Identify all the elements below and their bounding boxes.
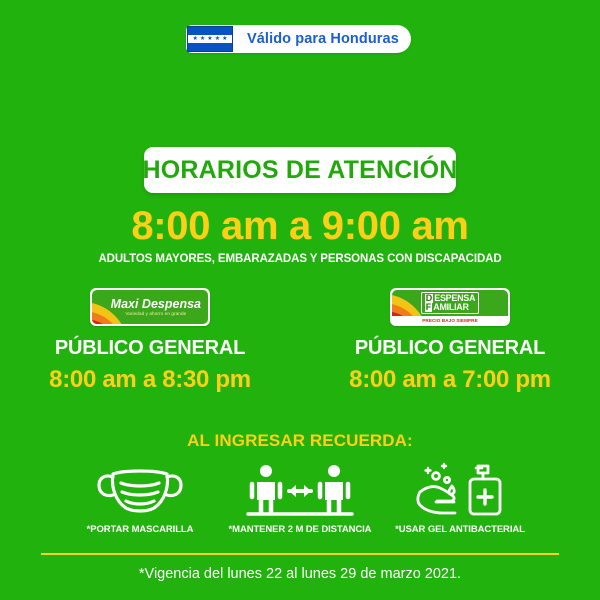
footer-validity-note: *Vigencia del lunes 22 al lunes 29 de ma… (0, 566, 600, 582)
reminder-label-mask: *PORTAR MASCARILLA (87, 524, 194, 535)
hand-sanitizer-icon (414, 462, 506, 518)
maxi-despensa-tagline: Variedad y ahorro en grande (111, 312, 201, 317)
despensa-familiar-hours: 8:00 am a 7:00 pm (349, 366, 551, 394)
reminder-item-distance: *MANTENER 2 M DE DISTANCIA (220, 462, 380, 535)
honduras-flag-icon: ★★★★★ (187, 26, 233, 52)
social-distance-icon (244, 462, 356, 518)
maxi-despensa-wordmark: Maxi Despensa Variedad y ahorro en grand… (111, 298, 201, 317)
reminder-label-sanitizer: *USAR GEL ANTIBACTERIAL (395, 524, 525, 535)
despensa-familiar-banner-text: PRECIO BAJO SIEMPRE (422, 318, 478, 323)
reminder-item-sanitizer: *USAR GEL ANTIBACTERIAL (380, 462, 540, 535)
despensa-familiar-logo-top: D ESPENSA F AMILIAR (392, 290, 508, 316)
page-title: HORARIOS DE ATENCIÓN (142, 156, 457, 185)
reminders-list: *PORTAR MASCARILLA *MANTENER 2 M DE DIST… (60, 462, 540, 535)
despensa-familiar-cap-f: F (425, 303, 433, 312)
flag-star: ★ (193, 36, 198, 42)
reminder-label-distance: *MANTENER 2 M DE DISTANCIA (229, 524, 372, 535)
store-hours-section: Maxi Despensa Variedad y ahorro en grand… (0, 288, 600, 394)
page-title-card: HORARIOS DE ATENCIÓN (144, 147, 456, 193)
maxi-despensa-logo: Maxi Despensa Variedad y ahorro en grand… (90, 288, 210, 326)
despensa-familiar-banner: PRECIO BAJO SIEMPRE (392, 316, 508, 324)
despensa-familiar-line2: F AMILIAR (425, 303, 475, 312)
flag-band-bottom (188, 43, 232, 51)
validity-badge: ★★★★★ Válido para Honduras (186, 25, 411, 53)
store-column-maxi-despensa: Maxi Despensa Variedad y ahorro en grand… (0, 288, 300, 394)
maxi-despensa-audience: PÚBLICO GENERAL (55, 337, 245, 360)
despensa-familiar-audience: PÚBLICO GENERAL (355, 337, 545, 360)
maxi-despensa-name: Maxi Despensa (111, 297, 201, 311)
priority-audience: ADULTOS MAYORES, EMBARAZADAS Y PERSONAS … (0, 253, 600, 265)
flag-band-top (188, 27, 232, 35)
reminder-item-mask: *PORTAR MASCARILLA (60, 462, 220, 535)
maxi-despensa-logo-inner: Maxi Despensa Variedad y ahorro en grand… (92, 290, 208, 324)
footer-divider (41, 553, 559, 555)
flag-star: ★ (207, 36, 212, 42)
face-mask-icon (95, 462, 185, 518)
validity-label: Válido para Honduras (247, 31, 399, 47)
store-column-despensa-familiar: D ESPENSA F AMILIAR PRECIO BAJO SIEMPRE … (300, 288, 600, 394)
flag-star: ★ (222, 36, 227, 42)
reminders-heading: AL INGRESAR RECUERDA: (0, 431, 600, 451)
flag-stars: ★★★★★ (188, 35, 232, 43)
priority-hours: 8:00 am a 9:00 am (0, 206, 600, 246)
maxi-despensa-hours: 8:00 am a 8:30 pm (49, 366, 251, 394)
flag-star: ★ (215, 36, 220, 42)
despensa-familiar-rest-amiliar: AMILIAR (433, 303, 468, 312)
flag-star: ★ (200, 36, 205, 42)
despensa-familiar-wordmark: D ESPENSA F AMILIAR (421, 292, 479, 314)
despensa-familiar-logo: D ESPENSA F AMILIAR PRECIO BAJO SIEMPRE (390, 288, 510, 326)
